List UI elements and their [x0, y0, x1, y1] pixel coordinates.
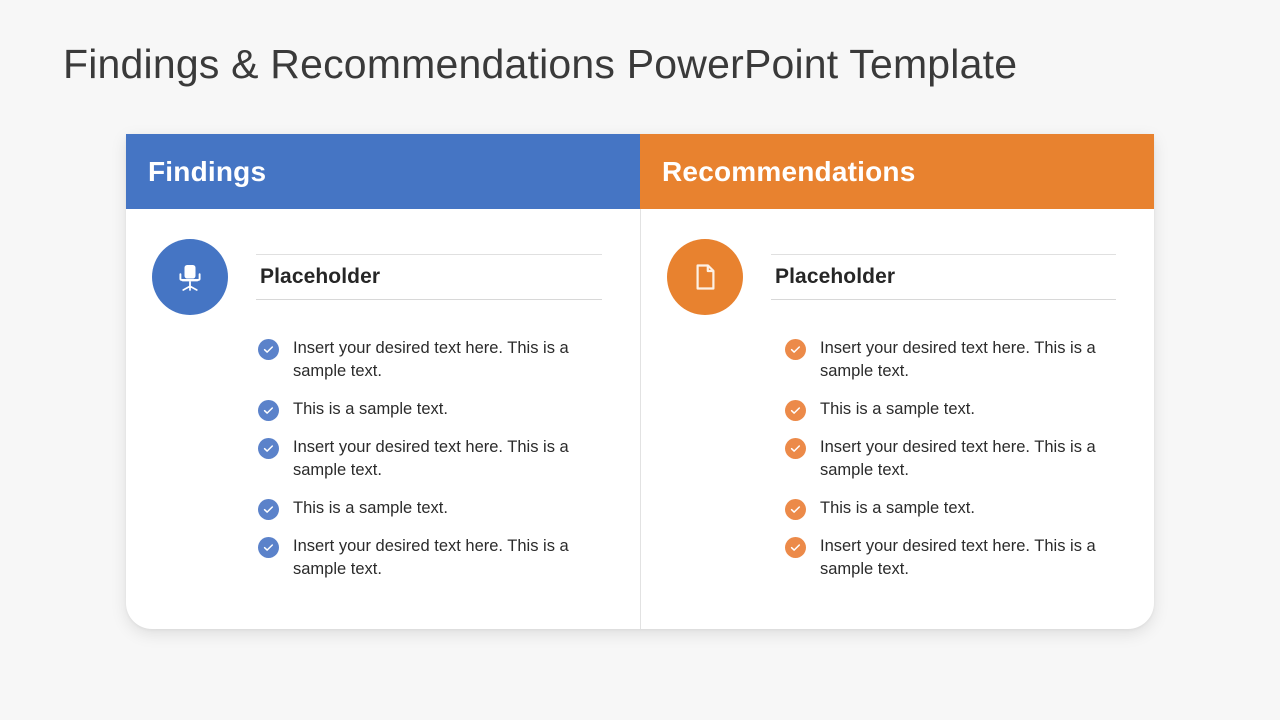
check-circle-icon — [785, 339, 806, 360]
list-item-text: Insert your desired text here. This is a… — [293, 337, 593, 383]
bullet-list-findings: Insert your desired text here. This is a… — [126, 337, 640, 581]
check-circle-icon — [258, 339, 279, 360]
check-circle-icon — [785, 537, 806, 558]
header-label-recommendations: Recommendations — [662, 158, 916, 186]
list-item-text: Insert your desired text here. This is a… — [293, 535, 593, 581]
check-circle-icon — [258, 400, 279, 421]
check-circle-icon — [258, 499, 279, 520]
card-body-row: Placeholder Insert your desired text her… — [126, 209, 1154, 629]
list-item: Insert your desired text here. This is a… — [785, 337, 1118, 383]
column-head-findings: Placeholder — [126, 239, 640, 315]
header-label-findings: Findings — [148, 158, 266, 186]
card-header-row: Findings Recommendations — [126, 134, 1154, 209]
placeholder-box-findings: Placeholder — [256, 254, 602, 299]
placeholder-box-recommendations: Placeholder — [771, 254, 1116, 299]
list-item-text: This is a sample text. — [293, 398, 448, 421]
check-circle-icon — [785, 400, 806, 421]
list-item: This is a sample text. — [258, 398, 596, 421]
check-circle-icon — [258, 438, 279, 459]
list-item: Insert your desired text here. This is a… — [785, 535, 1118, 581]
list-item: This is a sample text. — [258, 497, 596, 520]
list-item-text: Insert your desired text here. This is a… — [293, 436, 593, 482]
list-item: Insert your desired text here. This is a… — [785, 436, 1118, 482]
list-item: Insert your desired text here. This is a… — [258, 535, 596, 581]
list-item: Insert your desired text here. This is a… — [258, 337, 596, 383]
list-item: Insert your desired text here. This is a… — [258, 436, 596, 482]
list-item-text: This is a sample text. — [820, 497, 975, 520]
check-circle-icon — [258, 537, 279, 558]
bullet-list-recommendations: Insert your desired text here. This is a… — [641, 337, 1154, 581]
column-head-recommendations: Placeholder — [641, 239, 1154, 315]
column-findings: Placeholder Insert your desired text her… — [126, 209, 640, 629]
check-circle-icon — [785, 438, 806, 459]
office-chair-icon — [152, 239, 228, 315]
document-page-icon — [667, 239, 743, 315]
list-item-text: This is a sample text. — [293, 497, 448, 520]
placeholder-label-recommendations: Placeholder — [775, 264, 1116, 289]
header-cell-recommendations[interactable]: Recommendations — [640, 134, 1154, 209]
column-recommendations: Placeholder Insert your desired text her… — [640, 209, 1154, 629]
list-item-text: Insert your desired text here. This is a… — [820, 535, 1118, 581]
list-item: This is a sample text. — [785, 398, 1118, 421]
list-item: This is a sample text. — [785, 497, 1118, 520]
header-cell-findings[interactable]: Findings — [126, 134, 640, 209]
list-item-text: This is a sample text. — [820, 398, 975, 421]
list-item-text: Insert your desired text here. This is a… — [820, 436, 1118, 482]
findings-recommendations-card: Findings Recommendations — [126, 134, 1154, 629]
list-item-text: Insert your desired text here. This is a… — [820, 337, 1118, 383]
check-circle-icon — [785, 499, 806, 520]
slide-title: Findings & Recommendations PowerPoint Te… — [63, 41, 1017, 88]
placeholder-label-findings: Placeholder — [260, 264, 602, 289]
